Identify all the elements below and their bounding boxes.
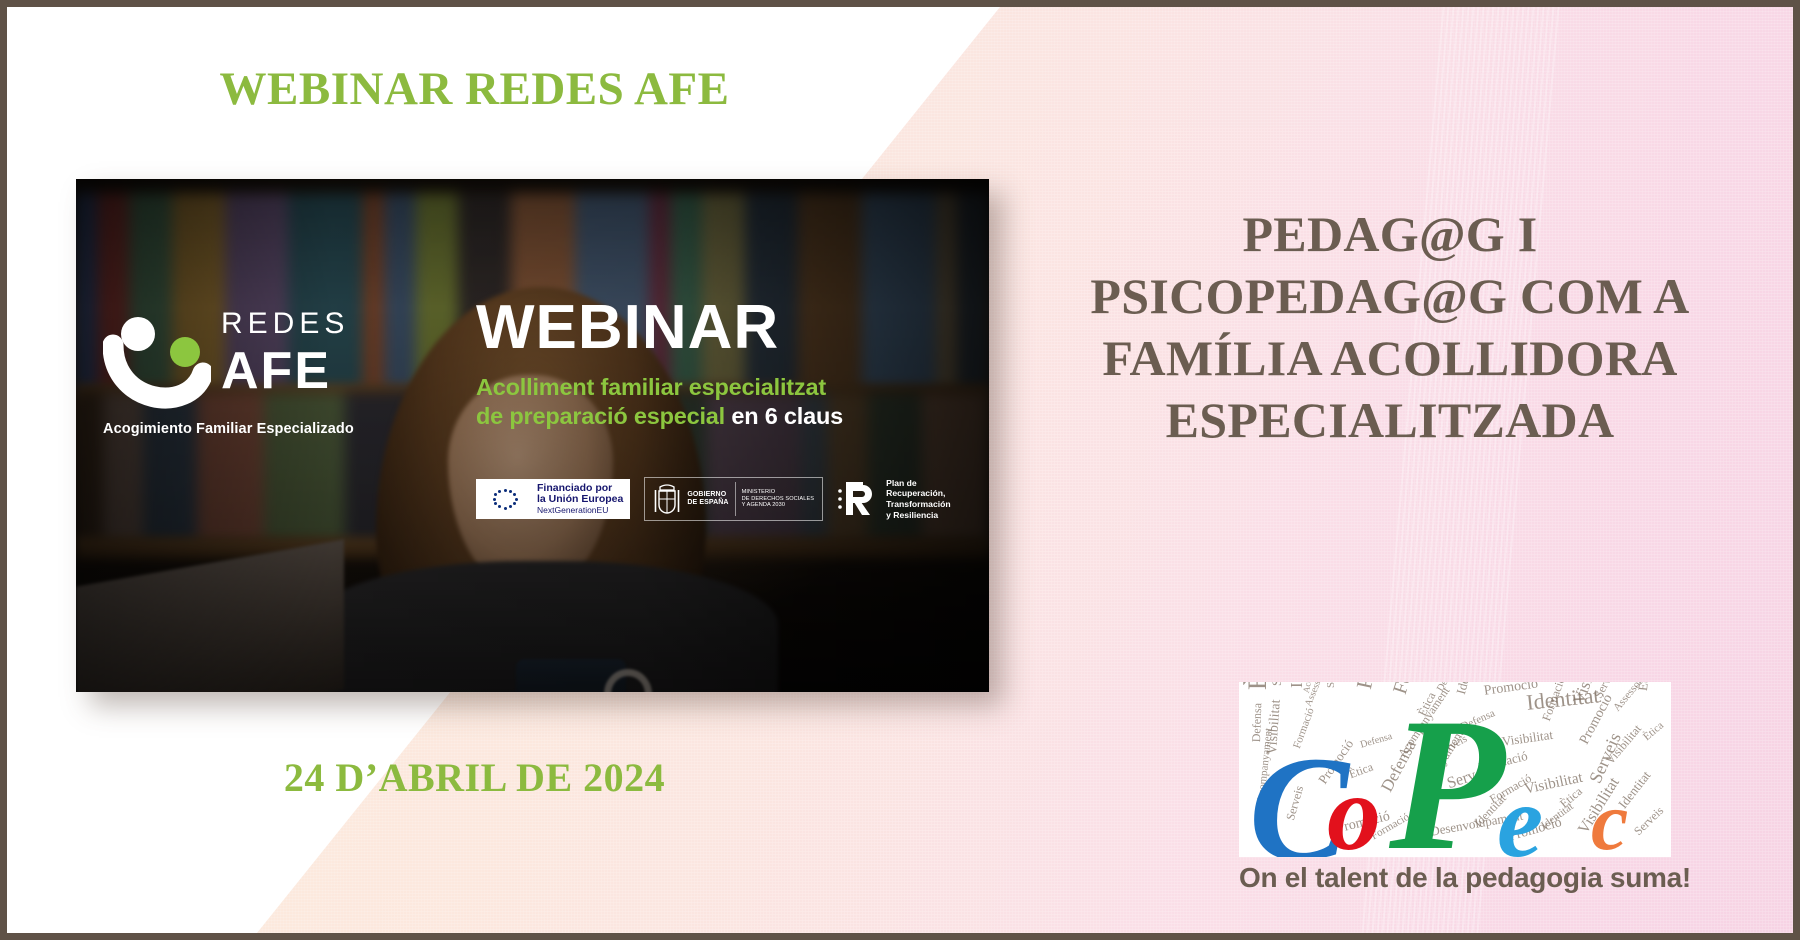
logo-divider bbox=[735, 482, 736, 516]
gobierno-line-2: DE ESPAÑA bbox=[687, 499, 728, 507]
slide-canvas: WEBINAR REDES AFE bbox=[0, 0, 1800, 940]
heading-line-4: ESPECIALITZADA bbox=[995, 389, 1785, 451]
prtr-logo-icon bbox=[837, 479, 879, 519]
cope-wordcloud-logo: ÈticaServeisIdentitatAcompanyamentServei… bbox=[1239, 682, 1671, 857]
subtitle-line-1: Acolliment familiar especialitzat bbox=[476, 374, 826, 400]
redes-afe-tagline: Acogimiento Familiar Especializado bbox=[103, 421, 354, 437]
webinar-headline: WEBINAR bbox=[476, 297, 956, 359]
prtr-line-2: Recuperación, bbox=[886, 488, 950, 499]
ministerio-text: MINISTERIO DE DERECHOS SOCIALES Y AGENDA… bbox=[742, 489, 815, 508]
gobierno-espana-logo: GOBIERNO DE ESPAÑA MINISTERIO DE DERECHO… bbox=[644, 477, 823, 521]
webinar-headline-block: WEBINAR Acolliment familiar especialitza… bbox=[476, 297, 956, 430]
funder-logo-row: Financiado por la Unión Europea NextGene… bbox=[476, 477, 951, 521]
event-date: 24 D’ABRIL DE 2024 bbox=[7, 754, 942, 801]
session-heading: PEDAG@G I PSICOPEDAG@G COM A FAMÍLIA ACO… bbox=[995, 203, 1785, 451]
eu-line-3: NextGenerationEU bbox=[537, 506, 623, 516]
webinar-promo-image: REDES AFE Acogimiento Familiar Especiali… bbox=[76, 179, 989, 692]
heading-line-1: PEDAG@G I bbox=[995, 203, 1785, 265]
cope-tagline: On el talent de la pedagogia suma! bbox=[1239, 862, 1671, 894]
smile-swoosh-icon bbox=[103, 311, 211, 419]
prtr-line-4: y Resiliencia bbox=[886, 510, 950, 521]
ministerio-line-3: Y AGENDA 2030 bbox=[742, 502, 815, 508]
page-title: WEBINAR REDES AFE bbox=[7, 62, 942, 116]
subtitle-tail: en 6 claus bbox=[731, 403, 843, 429]
left-column: WEBINAR REDES AFE bbox=[7, 7, 987, 933]
prtr-line-3: Transformación bbox=[886, 499, 950, 510]
prtr-logo: Plan de Recuperación, Transformación y R… bbox=[837, 478, 950, 521]
webinar-subtitle: Acolliment familiar especialitzat de pre… bbox=[476, 373, 956, 430]
prtr-text: Plan de Recuperación, Transformación y R… bbox=[886, 478, 950, 521]
prtr-line-1: Plan de bbox=[886, 478, 950, 489]
right-column: PEDAG@G I PSICOPEDAG@G COM A FAMÍLIA ACO… bbox=[987, 7, 1800, 933]
subtitle-line-2: de preparació especial bbox=[476, 403, 725, 429]
eu-flag-icon bbox=[480, 483, 530, 516]
redes-wordmark: REDES bbox=[221, 307, 349, 341]
gobierno-line-1: GOBIERNO bbox=[687, 491, 728, 499]
heading-line-2: PSICOPEDAG@G COM A bbox=[995, 265, 1785, 327]
heading-line-3: FAMÍLIA ACOLLIDORA bbox=[995, 327, 1785, 389]
afe-wordmark: AFE bbox=[221, 345, 331, 397]
cope-letterforms: CoPec bbox=[1239, 682, 1671, 857]
redes-afe-logo: REDES AFE Acogimiento Familiar Especiali… bbox=[103, 301, 363, 441]
eu-funding-logo: Financiado por la Unión Europea NextGene… bbox=[476, 479, 630, 519]
eu-funding-text: Financiado por la Unión Europea NextGene… bbox=[537, 483, 623, 516]
spain-coat-of-arms-icon bbox=[653, 482, 681, 516]
gobierno-text: GOBIERNO DE ESPAÑA bbox=[687, 491, 728, 507]
